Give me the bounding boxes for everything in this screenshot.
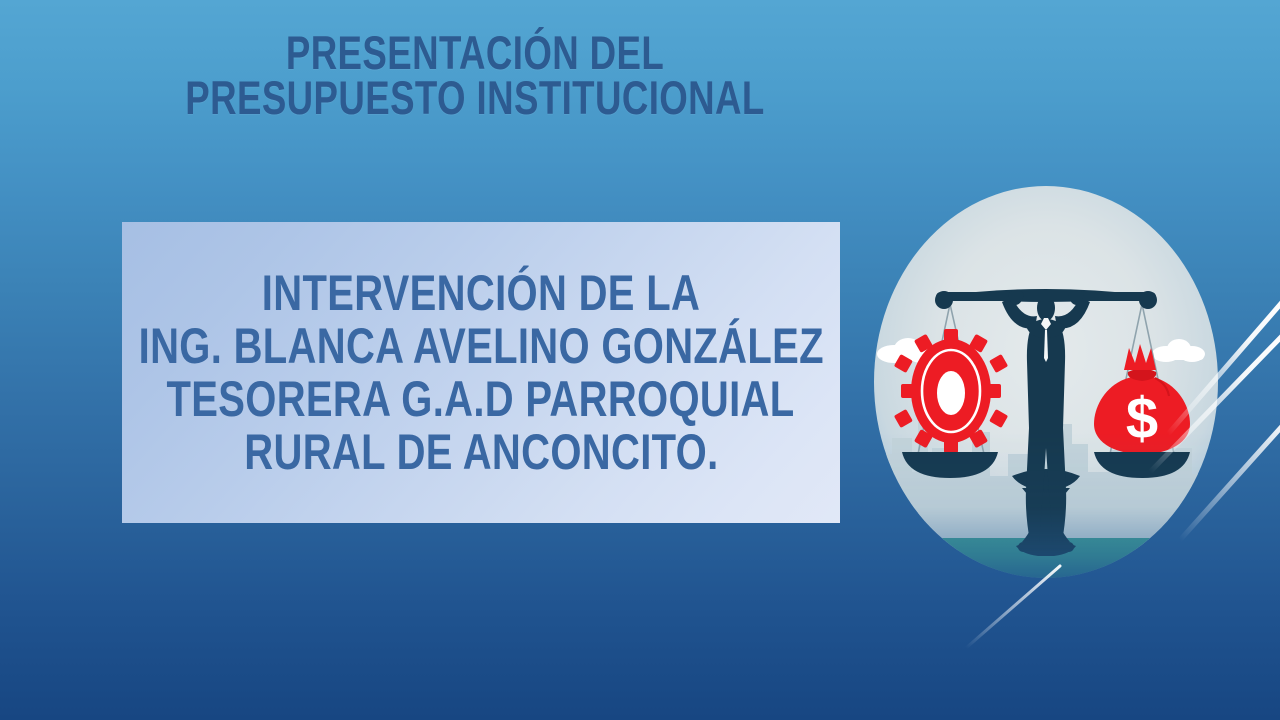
body-line-4: RURAL DE ANCONCITO. [244, 426, 718, 479]
body-line-1: INTERVENCIÓN DE LA [262, 267, 700, 320]
body-text-box: INTERVENCIÓN DE LA ING. BLANCA AVELINO G… [122, 222, 840, 523]
title-line-1: PRESENTACIÓN DEL [151, 30, 798, 75]
title-line-2: PRESUPUESTO INSTITUCIONAL [151, 75, 798, 120]
body-line-2: ING. BLANCA AVELINO GONZÁLEZ [138, 320, 823, 373]
presentation-slide: PRESENTACIÓN DEL PRESUPUESTO INSTITUCION… [0, 0, 1280, 720]
body-line-3: TESORERA G.A.D PARROQUIAL [167, 373, 795, 426]
svg-text:$: $ [1126, 386, 1158, 451]
slide-title: PRESENTACIÓN DEL PRESUPUESTO INSTITUCION… [60, 30, 890, 120]
balance-scale-illustration: $ [866, 186, 1226, 598]
